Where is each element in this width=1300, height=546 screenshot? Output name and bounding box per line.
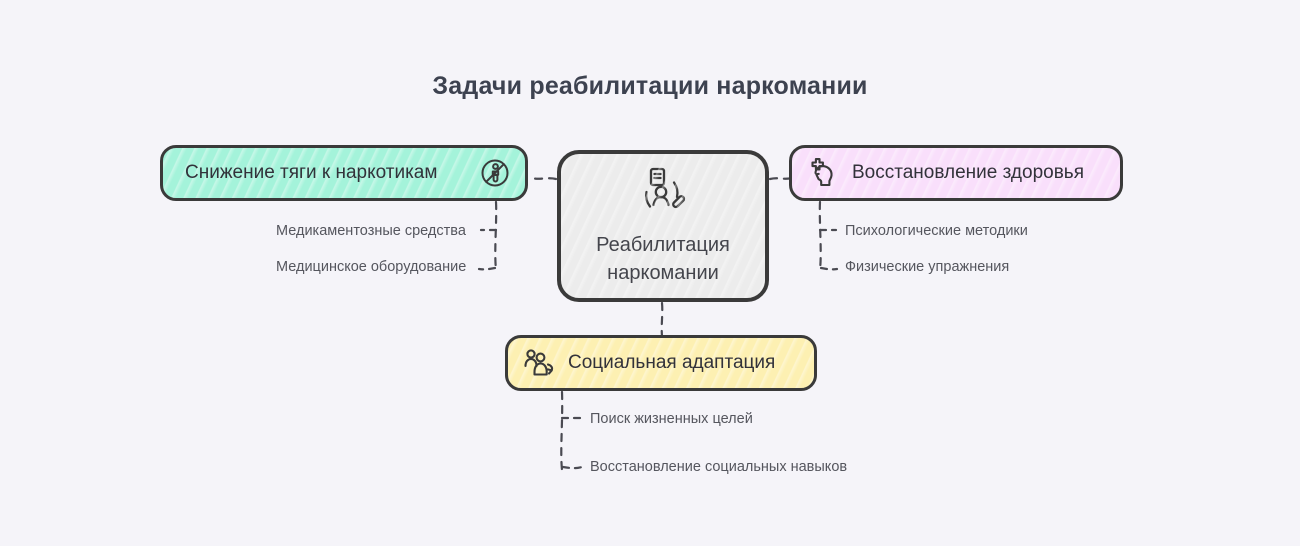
connector-health-spine: [820, 202, 821, 270]
connector-social-leaf-1: [563, 467, 582, 468]
head-medical-cross-icon: [806, 156, 840, 190]
branch-node-craving-label: Снижение тяги к наркотикам: [185, 162, 437, 184]
connector-health-leaf-1: [821, 268, 837, 269]
connector-social-spine: [561, 392, 562, 470]
page-title: Задачи реабилитации наркомании: [0, 72, 1300, 101]
leaf-label-craving-1: Медицинское оборудование: [276, 259, 466, 275]
connector-center-to-social: [662, 303, 663, 336]
leaf-label-health-0: Психологические методики: [845, 223, 1028, 239]
leaf-label-social-1: Восстановление социальных навыков: [590, 459, 847, 475]
branch-node-social-label: Социальная адаптация: [568, 352, 775, 374]
branch-node-health[interactable]: Восстановление здоровья: [789, 145, 1123, 201]
branch-node-craving[interactable]: Снижение тяги к наркотикам: [160, 145, 528, 201]
branch-node-social[interactable]: Социальная адаптация: [505, 335, 817, 391]
central-node[interactable]: Реабилитация наркомании: [557, 150, 769, 302]
leaf-label-craving-0: Медикаментозные средства: [276, 223, 466, 239]
central-node-label-line1: Реабилитация: [596, 232, 730, 258]
no-drugs-icon: [479, 157, 511, 189]
branch-node-health-label: Восстановление здоровья: [852, 162, 1084, 184]
connector-craving-leaf-1: [479, 268, 495, 269]
person-document-rehab-icon: [634, 166, 692, 216]
leaf-label-social-0: Поиск жизненных целей: [590, 411, 753, 427]
connector-craving-spine: [495, 202, 496, 270]
central-node-label-line2: наркомании: [607, 260, 719, 286]
connector-center-to-craving: [531, 178, 556, 179]
leaf-label-health-1: Физические упражнения: [845, 259, 1009, 275]
people-group-icon: [522, 347, 556, 379]
